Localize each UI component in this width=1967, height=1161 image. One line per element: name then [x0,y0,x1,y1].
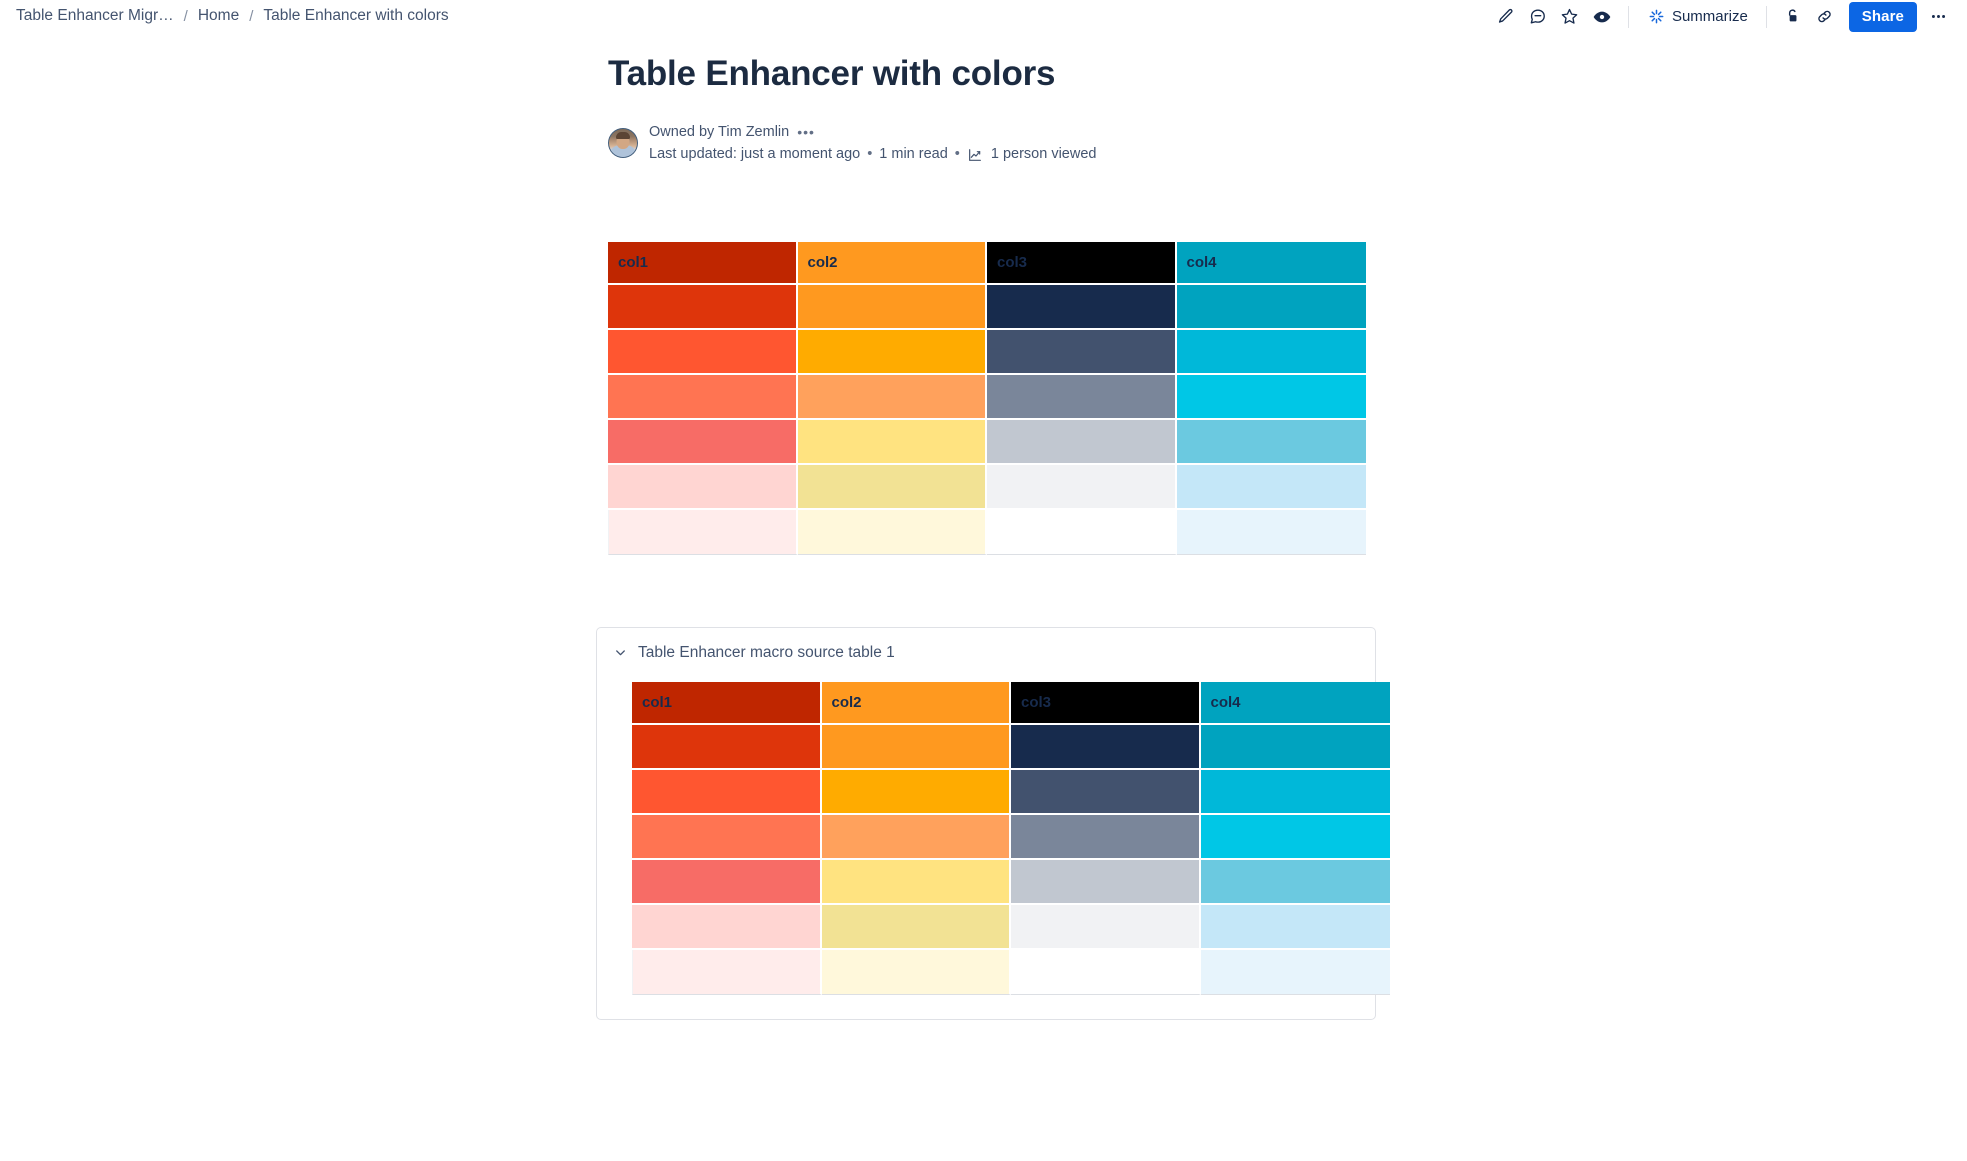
byline-text: Owned by Tim Zemlin ••• Last updated: ju… [649,121,1096,166]
table-row [632,905,1390,950]
toolbar-actions: Summarize Share [1491,2,1953,32]
table-header-row: col1 col2 col3 col4 [632,682,1390,725]
table-cell-col4[interactable] [1177,375,1367,420]
summarize-button[interactable]: Summarize [1640,2,1755,32]
table-cell-col2[interactable] [822,725,1012,770]
table-cell-col2[interactable] [798,510,988,555]
table-cell-col1[interactable] [632,860,822,905]
byline-owner-row: Owned by Tim Zemlin ••• [649,121,1096,143]
color-table-main: col1 col2 col3 col4 [608,242,1366,555]
toolbar-divider [1766,6,1767,28]
table-cell-col2[interactable] [822,905,1012,950]
table-row [608,330,1366,375]
table-cell-col3[interactable] [987,510,1177,555]
table-cell-col1[interactable] [608,465,798,510]
table-cell-col1[interactable] [608,330,798,375]
read-time-label: 1 min read [879,143,948,165]
column-header-col4[interactable]: col4 [1201,682,1391,725]
table-header: col1 col2 col3 col4 [608,242,1366,285]
table-cell-col4[interactable] [1201,725,1391,770]
expand-title: Table Enhancer macro source table 1 [638,644,895,662]
expand-toggle[interactable]: Table Enhancer macro source table 1 [611,640,897,666]
table-cell-col1[interactable] [632,815,822,860]
table-cell-col3[interactable] [987,420,1177,465]
table-cell-col3[interactable] [1011,770,1201,815]
analytics-line-chart-icon [967,147,983,163]
table-cell-col4[interactable] [1201,860,1391,905]
owner-label[interactable]: Owned by Tim Zemlin [649,121,789,143]
owner-more-icon[interactable]: ••• [795,125,817,139]
table-cell-col1[interactable] [608,285,798,330]
meta-dot: • [867,143,872,165]
table-cell-col3[interactable] [1011,815,1201,860]
content-column: Table Enhancer with colors Owned by Tim … [608,53,1378,555]
table-cell-col4[interactable] [1201,905,1391,950]
expand-content: col1 col2 col3 col4 [632,682,1361,995]
breadcrumb-separator: / [249,8,253,25]
table-body [632,725,1390,995]
column-header-col2[interactable]: col2 [822,682,1012,725]
table-cell-col4[interactable] [1201,815,1391,860]
table-cell-col4[interactable] [1177,510,1367,555]
table-row [608,420,1366,465]
table-cell-col1[interactable] [608,510,798,555]
column-header-col3[interactable]: col3 [1011,682,1201,725]
more-options-icon[interactable] [1923,2,1953,32]
table-cell-col2[interactable] [822,860,1012,905]
table-cell-col2[interactable] [798,285,988,330]
table-cell-col2[interactable] [798,330,988,375]
meta-dot: • [955,143,960,165]
table-cell-col2[interactable] [822,815,1012,860]
table-cell-col3[interactable] [1011,725,1201,770]
table-row [632,815,1390,860]
table-row [608,375,1366,420]
breadcrumb: Table Enhancer Migr… / Home / Table Enha… [14,5,451,27]
toolbar-divider [1628,6,1629,28]
eye-icon[interactable] [1587,2,1617,32]
views-label[interactable]: 1 person viewed [991,143,1097,165]
share-button[interactable]: Share [1849,2,1917,32]
table-cell-col3[interactable] [1011,950,1201,995]
table-cell-col3[interactable] [987,465,1177,510]
table-cell-col3[interactable] [987,375,1177,420]
table-cell-col4[interactable] [1177,330,1367,375]
table-cell-col3[interactable] [987,285,1177,330]
table-cell-col1[interactable] [632,725,822,770]
table-cell-col3[interactable] [987,330,1177,375]
star-icon[interactable] [1555,2,1585,32]
table-header: col1 col2 col3 col4 [632,682,1390,725]
table-cell-col2[interactable] [822,770,1012,815]
expand-macro-panel: Table Enhancer macro source table 1 col1… [596,627,1376,1020]
column-header-col2[interactable]: col2 [798,242,988,285]
table-enhancer-output: col1 col2 col3 col4 [608,242,1378,555]
table-row [632,725,1390,770]
link-icon[interactable] [1810,2,1840,32]
table-cell-col1[interactable] [632,905,822,950]
color-table-source: col1 col2 col3 col4 [632,682,1390,995]
table-row [632,770,1390,815]
table-cell-col1[interactable] [608,375,798,420]
page-content: Table Enhancer with colors Owned by Tim … [0,33,1967,1020]
table-body [608,285,1366,555]
page-byline: Owned by Tim Zemlin ••• Last updated: ju… [608,121,1378,166]
breadcrumb-space[interactable]: Table Enhancer Migr… [14,5,176,27]
unlock-icon[interactable] [1778,2,1808,32]
column-header-col4[interactable]: col4 [1177,242,1367,285]
table-cell-col4[interactable] [1177,285,1367,330]
table-cell-col1[interactable] [608,420,798,465]
breadcrumb-current[interactable]: Table Enhancer with colors [261,5,450,27]
table-cell-col3[interactable] [1011,905,1201,950]
table-row [608,465,1366,510]
table-cell-col2[interactable] [822,950,1012,995]
table-cell-col1[interactable] [632,950,822,995]
table-cell-col4[interactable] [1177,420,1367,465]
table-cell-col2[interactable] [798,420,988,465]
byline-meta-row: Last updated: just a moment ago • 1 min … [649,143,1096,165]
page-title: Table Enhancer with colors [608,53,1378,95]
table-cell-col3[interactable] [1011,860,1201,905]
table-row [608,285,1366,330]
comment-icon[interactable] [1523,2,1553,32]
table-cell-col4[interactable] [1201,770,1391,815]
summarize-label: Summarize [1672,8,1748,25]
table-cell-col1[interactable] [632,770,822,815]
breadcrumb-home[interactable]: Home [196,5,241,27]
last-updated-label[interactable]: Last updated: just a moment ago [649,143,860,165]
table-cell-col2[interactable] [798,465,988,510]
column-header-col1[interactable]: col1 [608,242,798,285]
table-row [608,510,1366,555]
top-bar: Table Enhancer Migr… / Home / Table Enha… [0,0,1967,33]
table-row [632,860,1390,905]
table-row [632,950,1390,995]
table-cell-col4[interactable] [1177,465,1367,510]
breadcrumb-separator: / [184,8,188,25]
table-cell-col4[interactable] [1201,950,1391,995]
avatar[interactable] [608,128,638,158]
pencil-icon[interactable] [1491,2,1521,32]
chevron-down-icon [613,645,628,660]
column-header-col1[interactable]: col1 [632,682,822,725]
ai-sparkle-icon [1647,7,1666,26]
table-cell-col2[interactable] [798,375,988,420]
table-header-row: col1 col2 col3 col4 [608,242,1366,285]
column-header-col3[interactable]: col3 [987,242,1177,285]
